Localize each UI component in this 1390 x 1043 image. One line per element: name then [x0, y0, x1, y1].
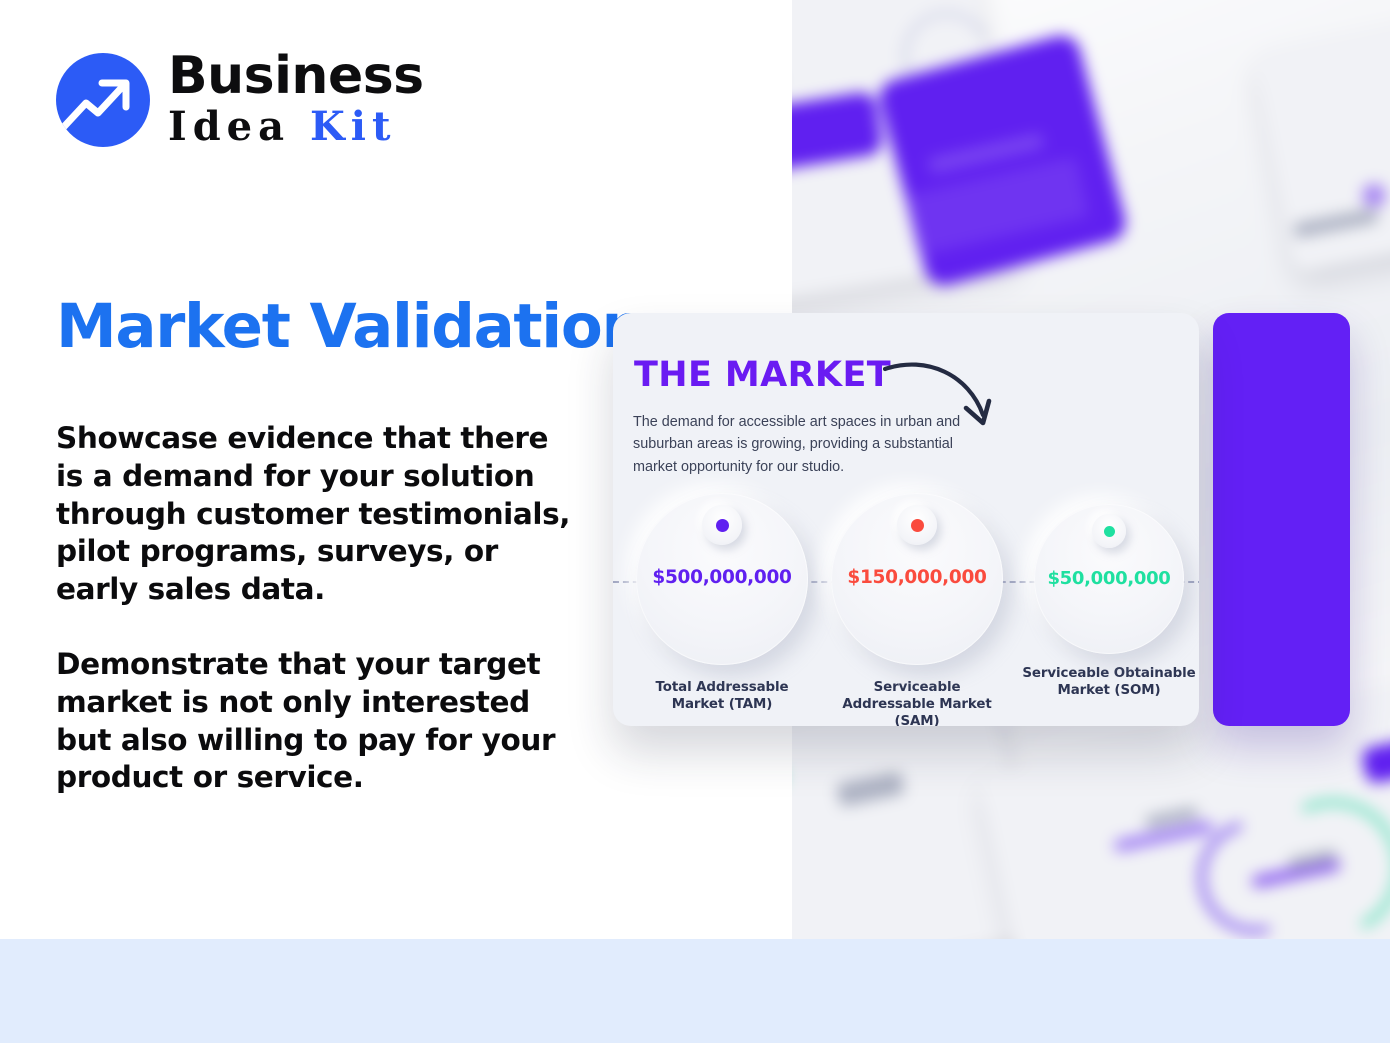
metric-disc: $500,000,000 [636, 493, 808, 665]
metric-label: Serviceable Addressable Market (SAM) [826, 679, 1008, 726]
metric-amount: $500,000,000 [636, 567, 808, 588]
brand-name-kit: Kit [310, 103, 396, 150]
metric-knob [1092, 514, 1126, 548]
metric-amount: $50,000,000 [1034, 568, 1184, 589]
market-card-title: THE MARKET [634, 355, 891, 395]
metric-label: Serviceable Obtainable Market (SOM) [1018, 665, 1199, 699]
body-paragraph-1: Showcase evidence that there is a demand… [56, 420, 576, 609]
page-title: Market Validation [56, 296, 644, 357]
brand-name-line1: Business [168, 50, 424, 102]
status-dot-icon [716, 519, 729, 532]
trend-arrow-icon [56, 53, 150, 147]
metric-label: Total Addressable Market (TAM) [631, 679, 813, 713]
footer-band [0, 939, 1390, 1043]
metric-tam: $500,000,000 Total Addressable Market (T… [631, 493, 813, 713]
metric-knob [897, 505, 937, 545]
brand-name-idea: Idea [168, 103, 310, 150]
slide-page: Business Idea Kit Market Validation Show… [0, 0, 1390, 1043]
metric-amount: $150,000,000 [831, 567, 1003, 588]
deck-dot-b [1362, 184, 1385, 207]
metric-knob [702, 505, 742, 545]
metric-disc: $50,000,000 [1034, 504, 1184, 654]
metrics-row: $500,000,000 Total Addressable Market (T… [613, 493, 1199, 693]
market-slide-card: THE MARKET The demand for accessible art… [613, 313, 1199, 726]
brand-wordmark: Business Idea Kit [168, 50, 424, 148]
metric-som: $50,000,000 Serviceable Obtainable Marke… [1018, 493, 1199, 699]
status-dot-icon [911, 519, 924, 532]
metric-sam: $150,000,000 Serviceable Addressable Mar… [826, 493, 1008, 726]
status-dot-icon [1104, 526, 1115, 537]
accent-slab [1213, 313, 1350, 726]
brand-name-line2: Idea Kit [168, 106, 424, 148]
body-paragraph-2: Demonstrate that your target market is n… [56, 646, 576, 797]
curved-arrow-down-icon [883, 353, 1003, 448]
brand-logo: Business Idea Kit [56, 52, 424, 148]
metric-disc: $150,000,000 [831, 493, 1003, 665]
